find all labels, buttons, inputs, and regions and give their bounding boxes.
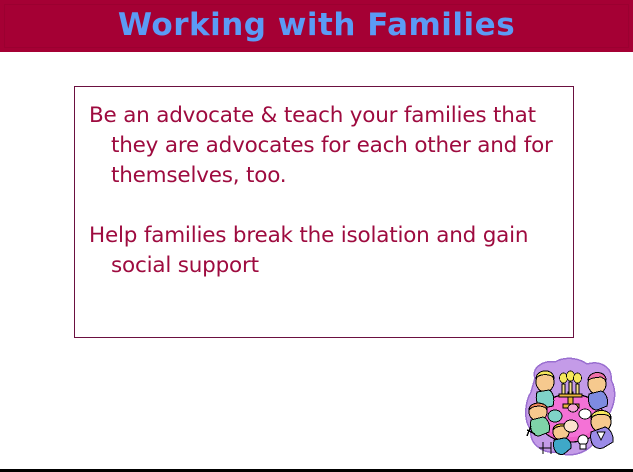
clipart-person-top-left xyxy=(536,371,554,408)
body-paragraph-2: Help families break the isolation and ga… xyxy=(89,221,561,281)
body-text-box: Be an advocate & teach your families tha… xyxy=(74,86,574,338)
clipart-plate-2 xyxy=(564,420,578,432)
presentation-slide: Working with Families Be an advocate & t… xyxy=(0,0,633,472)
clipart-bowl xyxy=(568,404,578,412)
clipart-person-right xyxy=(591,411,614,449)
clipart-plate-3 xyxy=(579,409,591,419)
clipart-plate-1 xyxy=(548,410,562,422)
page-title: Working with Families xyxy=(0,0,633,52)
clipart-person-left xyxy=(529,403,550,436)
clipart-glass xyxy=(578,435,588,445)
slide-title-banner: Working with Families xyxy=(0,0,633,52)
clipart-glass-stem xyxy=(580,444,586,449)
body-paragraph-1: Be an advocate & teach your families tha… xyxy=(89,101,561,191)
family-dinner-table-clipart xyxy=(521,356,621,462)
